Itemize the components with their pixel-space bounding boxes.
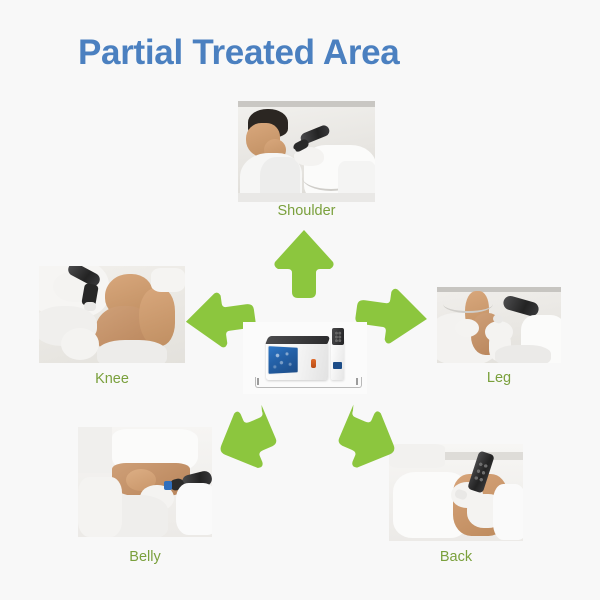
treatment-label-leg: Leg: [437, 370, 561, 386]
treatment-label-belly: Belly: [78, 549, 212, 565]
treatment-photo-leg: [437, 287, 561, 363]
treatment-photo-knee: [39, 266, 185, 363]
treatment-label-shoulder: Shoulder: [238, 203, 375, 219]
treatment-photo-belly: [78, 427, 212, 537]
page-title: Partial Treated Area: [78, 33, 399, 73]
treatment-label-back: Back: [389, 549, 523, 565]
treatment-photo-shoulder: [238, 101, 375, 202]
shockwave-therapy-device-photo: [243, 322, 367, 394]
arrow-down-right-icon: [322, 396, 402, 468]
arrow-down-left-icon: [212, 396, 292, 468]
arrow-up-icon: [271, 228, 337, 300]
slide-canvas: Partial Treated Area Shoulder: [0, 0, 600, 600]
treatment-label-knee: Knee: [39, 371, 185, 387]
treatment-photo-back: [389, 444, 523, 541]
